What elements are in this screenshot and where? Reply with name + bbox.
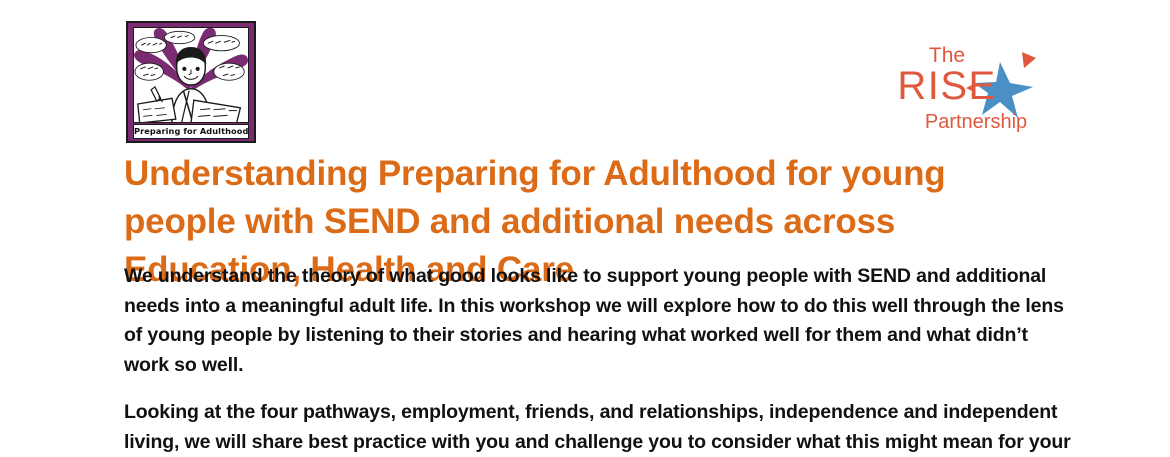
badge-caption: Preparing for Adulthood [133,124,249,139]
header-row: Preparing for Adulthood The RISE Partner… [0,0,1170,148]
paragraph-1: We understand the theory of what good lo… [124,262,1072,380]
rise-logo-line3: Partnership [925,111,1027,133]
badge-artwork-svg [134,28,248,123]
body-content: We understand the theory of what good lo… [124,262,1072,457]
badge-illustration [133,27,249,123]
rise-logo-svg: The RISE Partnership [900,40,1040,135]
the-rise-partnership-logo: The RISE Partnership [900,40,1040,135]
preparing-for-adulthood-badge: Preparing for Adulthood [126,21,256,143]
paragraph-2: Looking at the four pathways, employment… [124,398,1072,457]
rise-logo-line2: RISE [900,64,997,108]
document-page: Preparing for Adulthood The RISE Partner… [0,0,1170,450]
